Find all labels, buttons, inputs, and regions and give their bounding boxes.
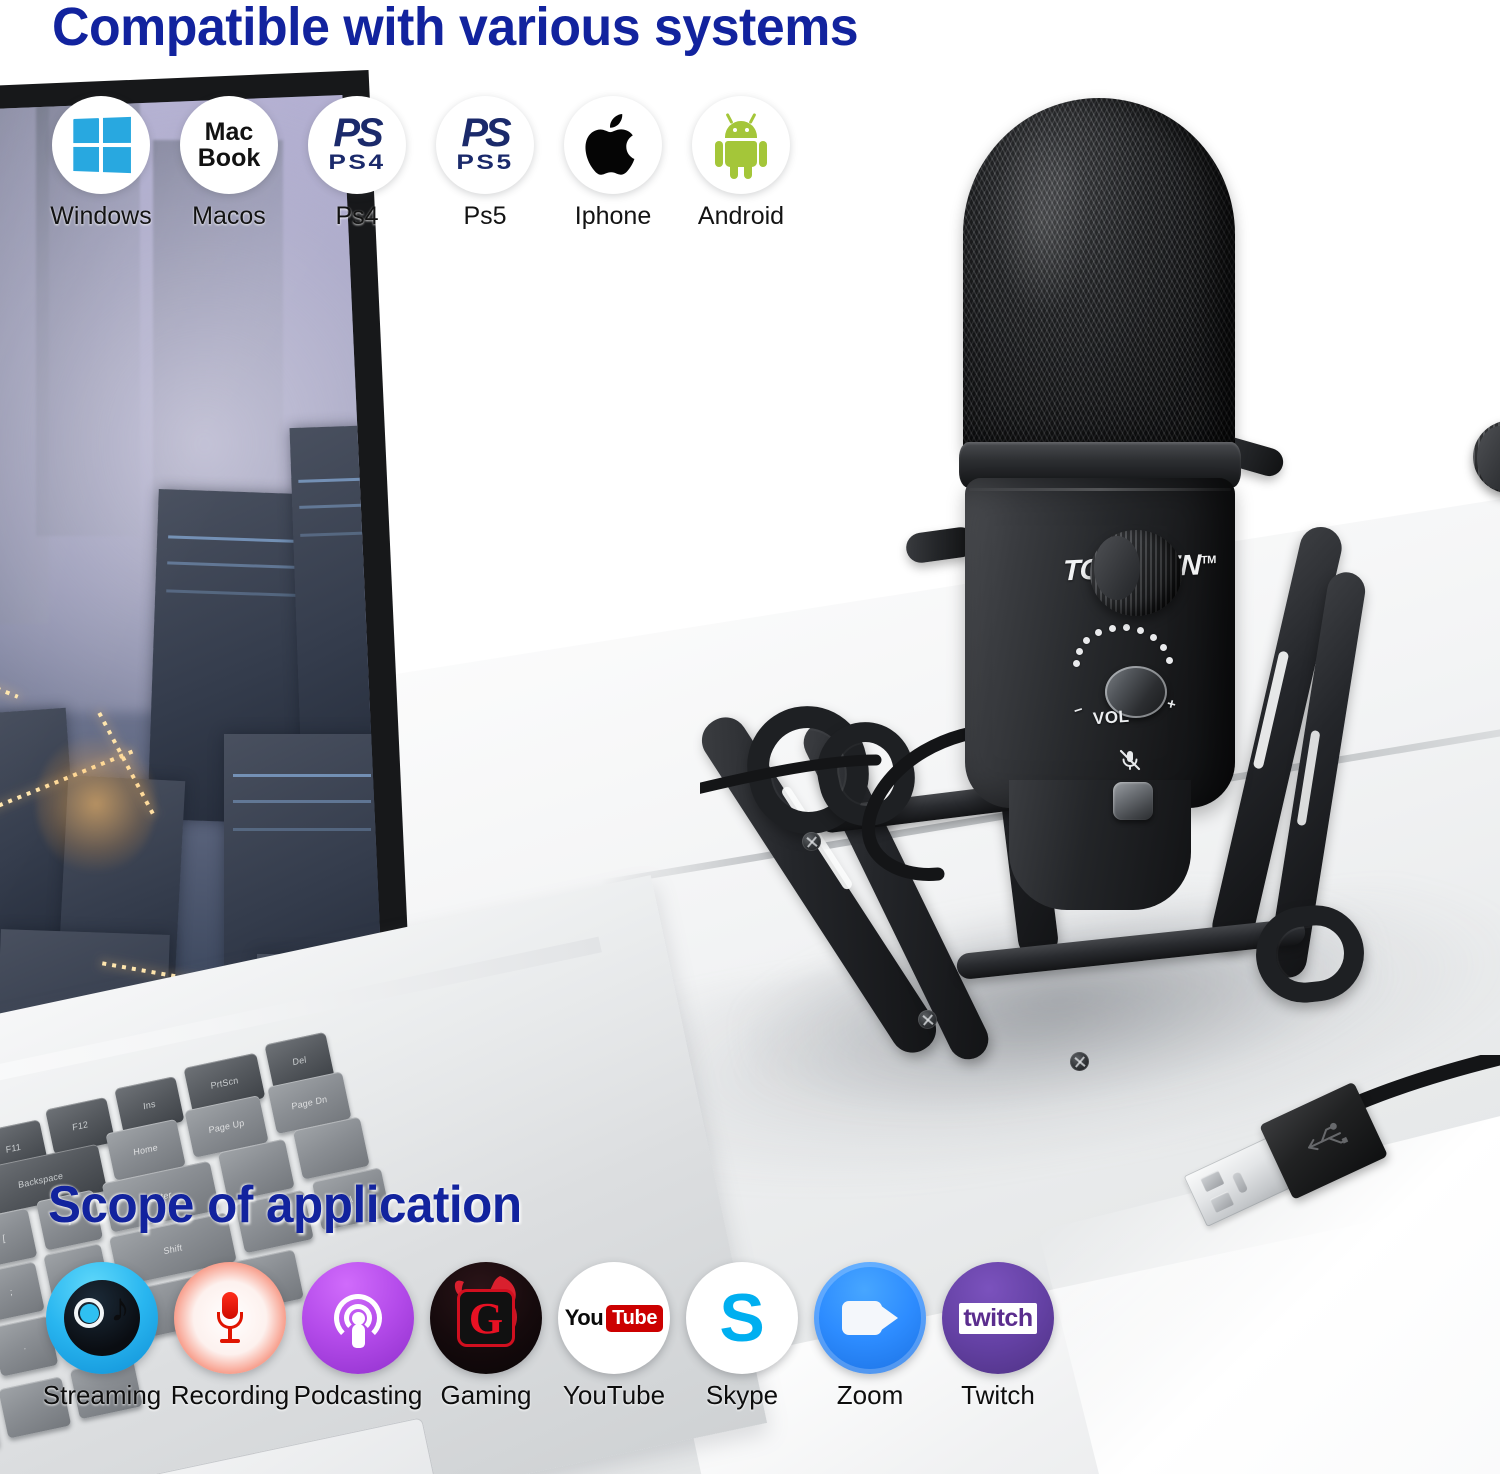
application-icon-row: ♪ Streaming Recording Podcasting xyxy=(46,1262,1054,1411)
compatibility-badge-row: Windows Mac Book Macos PS PS4 Ps4 xyxy=(52,96,790,231)
youtube-you-text: You xyxy=(565,1305,603,1331)
app-skype[interactable]: S Skype xyxy=(686,1262,798,1411)
gaming-g-badge: G xyxy=(457,1289,515,1347)
app-zoom[interactable]: Zoom xyxy=(814,1262,926,1411)
app-label: Streaming xyxy=(43,1380,162,1411)
compat-badge-iphone[interactable]: Iphone xyxy=(564,96,662,231)
app-circle: G xyxy=(430,1262,542,1374)
compat-label: Iphone xyxy=(575,202,651,231)
badge-circle xyxy=(52,96,150,194)
android-robot-icon xyxy=(715,115,767,175)
trademark-mark: TM xyxy=(1201,554,1216,567)
product-marketing-image: F11 F12 Ins PrtScn Del Backspace Home Pa… xyxy=(0,0,1500,1474)
page-title-compatible: Compatible with various systems xyxy=(52,0,858,58)
apple-logo-icon xyxy=(582,110,644,180)
gaming-letter: G xyxy=(469,1293,503,1344)
app-circle: S xyxy=(686,1262,798,1374)
badge-circle xyxy=(564,96,662,194)
grille-highlight xyxy=(993,126,1089,316)
compat-label: Windows xyxy=(50,202,151,231)
app-twitch[interactable]: twitch Twitch xyxy=(942,1262,1054,1411)
app-label: Twitch xyxy=(961,1380,1035,1411)
tension-knob-left[interactable] xyxy=(1090,530,1182,616)
compat-badge-ps5[interactable]: PS PS5 Ps5 xyxy=(436,96,534,231)
zoom-camera-icon xyxy=(842,1301,898,1335)
skype-s-icon: S xyxy=(719,1284,764,1352)
podcast-waves-icon xyxy=(326,1286,390,1350)
badge-circle xyxy=(692,96,790,194)
app-circle: twitch xyxy=(942,1262,1054,1374)
compat-badge-ps4[interactable]: PS PS4 Ps4 xyxy=(308,96,406,231)
compat-label: Android xyxy=(698,202,784,231)
twitch-wordmark-icon: twitch xyxy=(959,1303,1036,1334)
windows-logo-icon xyxy=(73,117,131,173)
macbook-wordmark-icon: Mac Book xyxy=(198,119,261,172)
playstation-model-text: PS4 xyxy=(312,151,402,175)
app-recording[interactable]: Recording xyxy=(174,1262,286,1411)
app-label: Gaming xyxy=(440,1380,531,1411)
usb-microphone: TONSHENTM − VOL + xyxy=(700,90,1460,1170)
app-label: Skype xyxy=(706,1380,778,1411)
compat-badge-macos[interactable]: Mac Book Macos xyxy=(180,96,278,231)
compat-badge-android[interactable]: Android xyxy=(692,96,790,231)
badge-circle: Mac Book xyxy=(180,96,278,194)
playstation-logo-icon: PS PS4 xyxy=(321,115,393,175)
compat-label: Macos xyxy=(192,202,266,231)
app-circle: You Tube xyxy=(558,1262,670,1374)
badge-circle: PS PS4 xyxy=(308,96,406,194)
app-circle xyxy=(302,1262,414,1374)
app-label: YouTube xyxy=(563,1380,665,1411)
app-label: Recording xyxy=(171,1380,290,1411)
app-circle xyxy=(814,1262,926,1374)
microphone-body: TONSHENTM − VOL + xyxy=(935,90,1265,880)
barrel-seam xyxy=(969,488,1231,491)
app-streaming[interactable]: ♪ Streaming xyxy=(46,1262,158,1411)
app-podcasting[interactable]: Podcasting xyxy=(302,1262,414,1411)
macbook-line-2: Book xyxy=(198,145,261,171)
page-title-scope: Scope of application xyxy=(48,1175,522,1235)
barrel-taper xyxy=(1009,780,1191,910)
recording-microphone-icon xyxy=(215,1292,245,1344)
compat-label: Ps4 xyxy=(335,202,378,231)
app-label: Zoom xyxy=(837,1380,903,1411)
streaming-music-note-icon: ♪ xyxy=(64,1280,140,1356)
app-youtube[interactable]: You Tube YouTube xyxy=(558,1262,670,1411)
app-circle xyxy=(174,1262,286,1374)
badge-circle: PS PS5 xyxy=(436,96,534,194)
youtube-tube-text: Tube xyxy=(606,1305,663,1332)
mute-button[interactable] xyxy=(1113,782,1153,820)
youtube-wordmark-icon: You Tube xyxy=(565,1305,664,1332)
compat-label: Ps5 xyxy=(463,202,506,231)
app-label: Podcasting xyxy=(294,1380,423,1411)
app-gaming[interactable]: G Gaming xyxy=(430,1262,542,1411)
mute-microphone-icon xyxy=(1117,748,1143,774)
app-circle: ♪ xyxy=(46,1262,158,1374)
playstation-model-text: PS5 xyxy=(440,151,530,175)
volume-label: VOL xyxy=(1092,707,1130,729)
macbook-line-1: Mac xyxy=(198,119,261,145)
compat-badge-windows[interactable]: Windows xyxy=(52,96,150,231)
playstation-logo-icon: PS PS5 xyxy=(449,115,521,175)
